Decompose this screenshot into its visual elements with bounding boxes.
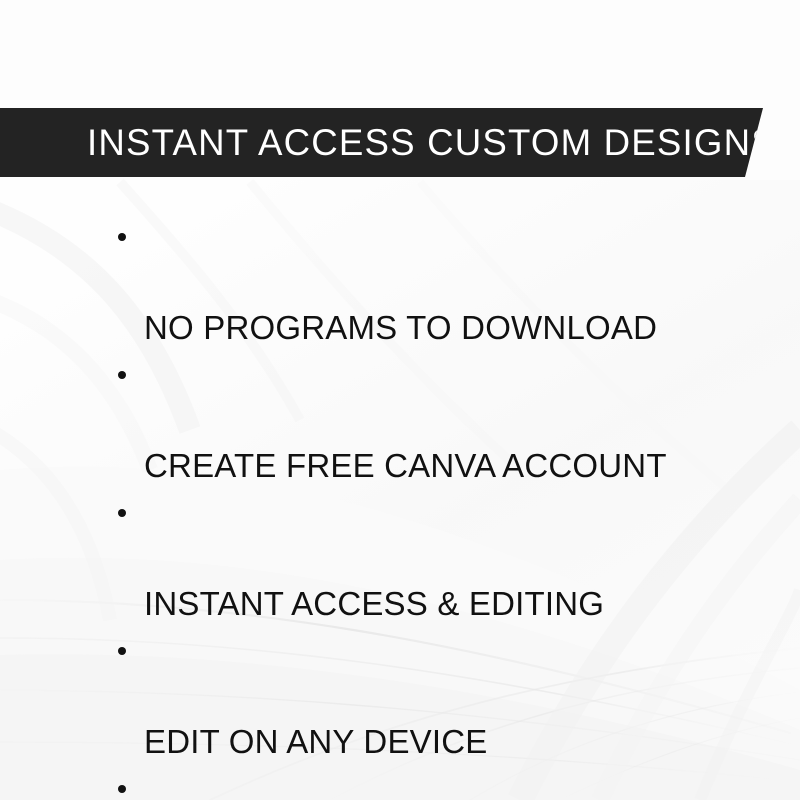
bullet-dot-icon [118, 785, 126, 793]
page-title: INSTANT ACCESS CUSTOM DESIGNS [87, 124, 777, 161]
promo-graphic-canvas: INSTANT ACCESS CUSTOM DESIGNS NO PROGRAM… [0, 0, 800, 800]
bullet-dot-icon [118, 233, 126, 241]
list-item: NO PROGRAMS TO DOWNLOAD [118, 213, 718, 351]
list-item-label: NO PROGRAMS TO DOWNLOAD [144, 309, 657, 346]
bullet-dot-icon [118, 371, 126, 379]
list-item: CREATE FREE CANVA ACCOUNT [118, 351, 718, 489]
bullet-dot-icon [118, 647, 126, 655]
bullet-dot-icon [118, 509, 126, 517]
feature-list: NO PROGRAMS TO DOWNLOAD CREATE FREE CANV… [118, 213, 718, 800]
list-item: EASY TO USE [118, 765, 718, 800]
list-item: EDIT ON ANY DEVICE [118, 627, 718, 765]
header-banner: INSTANT ACCESS CUSTOM DESIGNS [0, 108, 765, 177]
list-item: INSTANT ACCESS & EDITING [118, 489, 718, 627]
list-item-label: CREATE FREE CANVA ACCOUNT [144, 447, 667, 484]
list-item-label: INSTANT ACCESS & EDITING [144, 585, 604, 622]
list-item-label: EDIT ON ANY DEVICE [144, 723, 487, 760]
